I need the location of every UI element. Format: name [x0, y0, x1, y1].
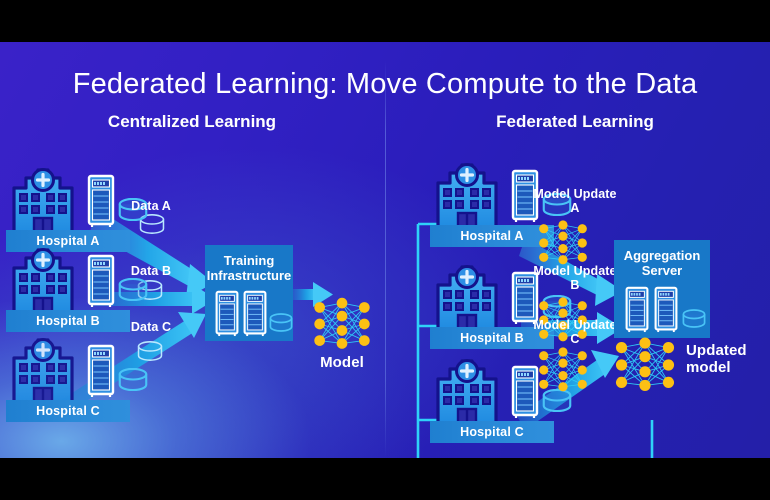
slide-stage: Federated Learning: Move Compute to the …	[0, 0, 770, 500]
server-rack-icon	[624, 286, 650, 333]
training-infrastructure-line2: Infrastructure	[205, 269, 293, 284]
data-flow-label-c: Data C	[113, 320, 189, 334]
hospital-building-icon	[430, 257, 504, 333]
neural-network-icon	[536, 347, 590, 393]
hospital-building-icon	[6, 160, 80, 236]
hospital-card-b-centralized[interactable]: Hospital B	[6, 240, 156, 332]
model-update-line2-b: B	[570, 278, 579, 292]
model-update-line1-c: Model Update	[533, 318, 616, 332]
hospital-building-icon	[6, 330, 80, 406]
training-infrastructure-line1: Training	[205, 245, 293, 269]
training-infrastructure-box[interactable]: Training Infrastructure	[205, 245, 293, 341]
neural-network-icon	[612, 337, 678, 393]
letterbox-top	[0, 0, 770, 42]
hospital-card-c-centralized[interactable]: Hospital C	[6, 330, 156, 422]
subtitle-federated: Federated Learning	[400, 112, 750, 132]
model-label: Model	[300, 354, 384, 371]
server-rack-icon	[86, 254, 116, 308]
data-flow-label-b: Data B	[113, 264, 189, 278]
hospital-label: Hospital C	[430, 421, 554, 443]
database-cylinder-icon	[682, 309, 706, 328]
model-update-line2-c: C	[570, 332, 579, 346]
updated-model-label: Updated model	[686, 342, 770, 377]
aggregation-server-line1: Aggregation	[614, 240, 710, 264]
neural-network-icon	[311, 297, 373, 351]
database-cylinder-icon	[118, 368, 148, 391]
model-update-line1-b: Model Update	[533, 264, 616, 278]
updated-model-line2: model	[686, 359, 731, 376]
database-cylinder-icon	[118, 278, 148, 301]
updated-model-line1: Updated	[686, 342, 747, 359]
hospital-building-icon	[430, 155, 504, 231]
aggregation-server-line2: Server	[614, 264, 710, 279]
model-update-label-a: Model Update A	[528, 187, 622, 216]
neural-network-icon	[536, 220, 590, 266]
model-update-line1-a: Model Update	[533, 187, 616, 201]
model-update-label-c: Model Update C	[528, 318, 622, 347]
hospital-building-icon	[6, 240, 80, 316]
server-rack-icon	[653, 286, 679, 333]
hospital-label: Hospital C	[6, 400, 130, 422]
server-rack-icon	[86, 344, 116, 398]
server-rack-icon	[214, 290, 240, 337]
hospital-label: Hospital B	[6, 310, 130, 332]
model-update-label-b: Model Update B	[528, 264, 622, 293]
server-rack-icon	[242, 290, 268, 337]
slide-canvas: Federated Learning: Move Compute to the …	[0, 42, 770, 458]
aggregation-server-box[interactable]: Aggregation Server	[614, 240, 710, 338]
model-update-line2-a: A	[570, 201, 579, 215]
hospital-building-icon	[430, 351, 504, 427]
server-rack-icon	[86, 174, 116, 228]
letterbox-bottom	[0, 458, 770, 500]
data-flow-label-a: Data A	[113, 199, 189, 213]
panel-divider	[385, 60, 386, 458]
database-cylinder-icon	[269, 313, 293, 332]
